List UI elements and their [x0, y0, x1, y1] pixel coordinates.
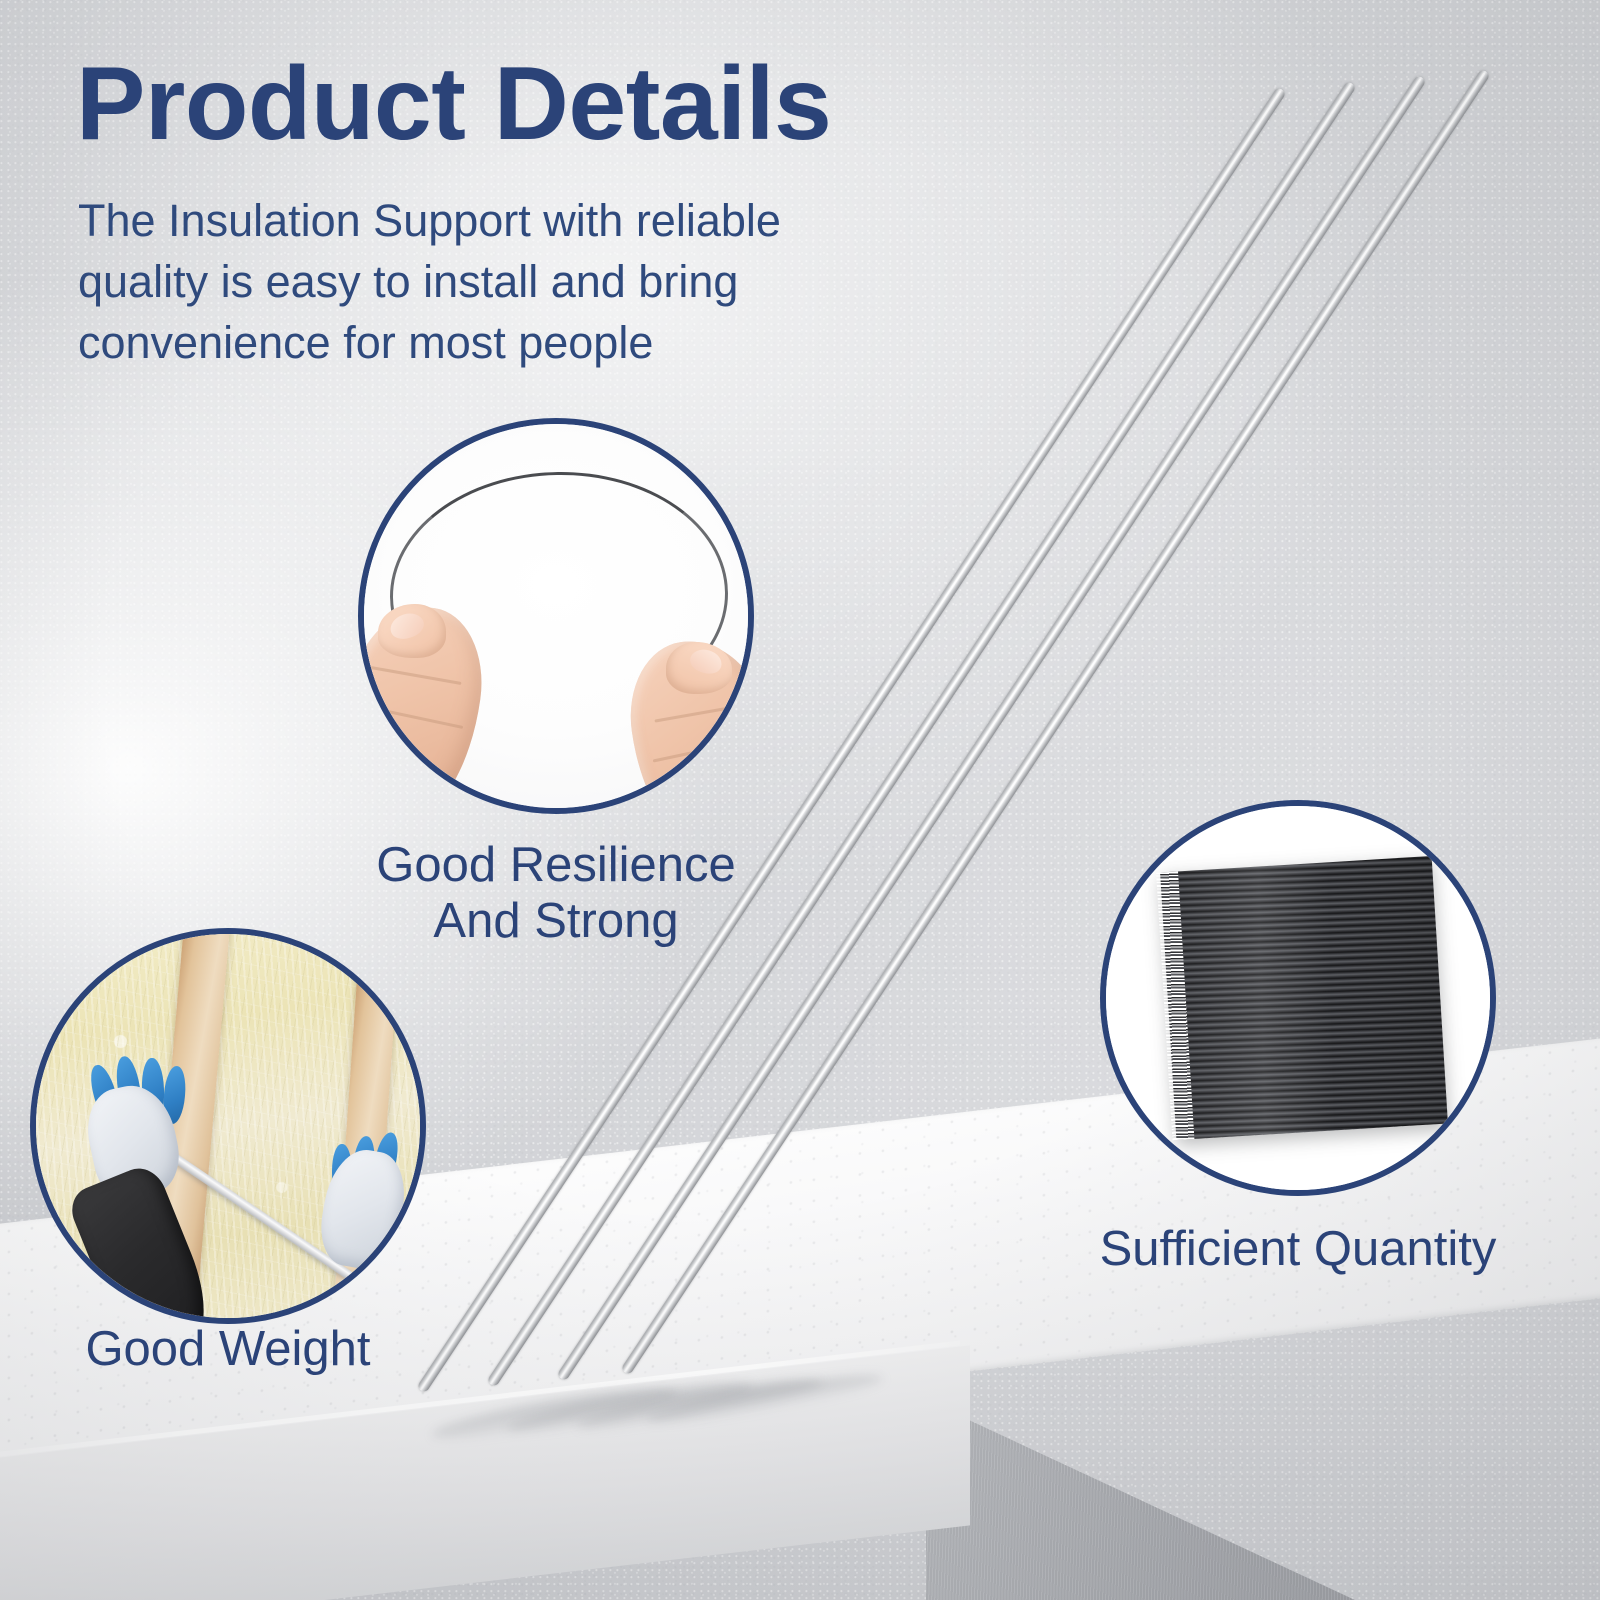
feature-caption-resilience: Good Resilience And Strong: [336, 838, 776, 950]
feature-image-quantity: [1100, 800, 1496, 1196]
feature-caption-quantity: Sufficient Quantity: [1068, 1222, 1528, 1278]
feature-image-weight: [30, 928, 426, 1324]
feature-image-resilience: [358, 418, 754, 814]
feature-caption-weight: Good Weight: [38, 1322, 418, 1378]
page-title: Product Details: [76, 52, 831, 156]
product-details-graphic: Product Details The Insulation Support w…: [0, 0, 1600, 1600]
page-subtitle: The Insulation Support with reliable qua…: [78, 190, 848, 374]
rod-bundle-icon: [1160, 856, 1448, 1140]
